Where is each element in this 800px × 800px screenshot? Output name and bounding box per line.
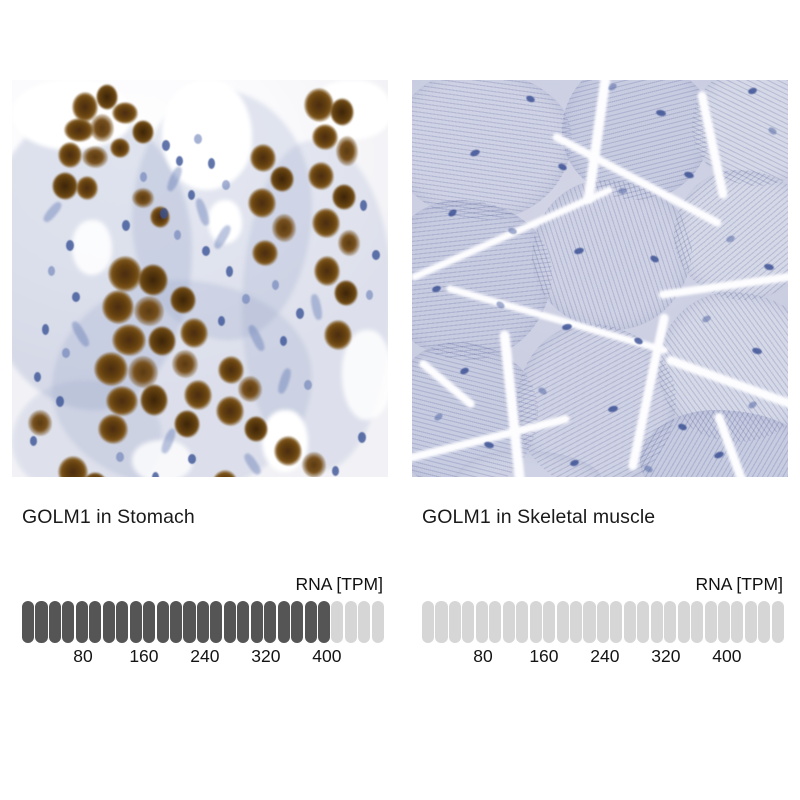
rna-segment (449, 601, 461, 643)
rna-tick-label: 320 (651, 646, 680, 667)
rna-segment (758, 601, 770, 643)
rna-segment (143, 601, 155, 643)
rna-segment (197, 601, 209, 643)
rna-segment (251, 601, 263, 643)
rna-segment (570, 601, 582, 643)
rna-segment (718, 601, 730, 643)
rna-segment (157, 601, 169, 643)
rna-segment (422, 601, 434, 643)
rna-segment (610, 601, 622, 643)
figure-root: GOLM1 in Stomach RNA [TPM] 8016024032040… (0, 0, 800, 800)
rna-tick-label: 240 (190, 646, 219, 667)
rna-segment (462, 601, 474, 643)
rna-segment (331, 601, 343, 643)
rna-tick-label: 160 (529, 646, 558, 667)
rna-segment (772, 601, 784, 643)
rna-segment (372, 601, 384, 643)
rna-segment (651, 601, 663, 643)
rna-segment (345, 601, 357, 643)
rna-segment (62, 601, 74, 643)
rna-segment (557, 601, 569, 643)
rna-segment (170, 601, 182, 643)
rna-segment (130, 601, 142, 643)
rna-segment (691, 601, 703, 643)
rna-label-skeletal-muscle: RNA [TPM] (695, 574, 783, 595)
rna-segment (49, 601, 61, 643)
rna-segment (731, 601, 743, 643)
rna-tick-label: 240 (590, 646, 619, 667)
rna-segment (22, 601, 34, 643)
rna-segment (530, 601, 542, 643)
rna-segment (597, 601, 609, 643)
panel-stomach: GOLM1 in Stomach RNA [TPM] 8016024032040… (0, 0, 400, 800)
micrograph-skeletal-muscle[interactable] (412, 80, 788, 477)
rna-segment (516, 601, 528, 643)
rna-segment (183, 601, 195, 643)
rna-segment (637, 601, 649, 643)
rna-tick-label: 400 (312, 646, 341, 667)
rna-tick-label: 320 (251, 646, 280, 667)
rna-segment (103, 601, 115, 643)
rna-segment (224, 601, 236, 643)
rna-segment (583, 601, 595, 643)
rna-segment (210, 601, 222, 643)
micrograph-stomach[interactable] (12, 80, 388, 477)
rna-segment (503, 601, 515, 643)
rna-tick-label: 80 (73, 646, 92, 667)
rna-segment (476, 601, 488, 643)
rna-segment (305, 601, 317, 643)
rna-tick-label: 160 (129, 646, 158, 667)
rna-segment (237, 601, 249, 643)
rna-segment (116, 601, 128, 643)
rna-segment (435, 601, 447, 643)
rna-segment (278, 601, 290, 643)
rna-segment (318, 601, 330, 643)
rna-segment (291, 601, 303, 643)
rna-segment (89, 601, 101, 643)
rna-segment (705, 601, 717, 643)
rna-gauge-stomach[interactable] (22, 601, 384, 643)
rna-tick-label: 80 (473, 646, 492, 667)
rna-label-stomach: RNA [TPM] (295, 574, 383, 595)
rna-segment (35, 601, 47, 643)
rna-tick-label: 400 (712, 646, 741, 667)
rna-segment (264, 601, 276, 643)
rna-ticks-stomach: 80160240320400 (22, 646, 384, 670)
rna-segment (745, 601, 757, 643)
rna-segment (76, 601, 88, 643)
rna-segment (678, 601, 690, 643)
caption-skeletal-muscle: GOLM1 in Skeletal muscle (422, 506, 655, 529)
caption-stomach: GOLM1 in Stomach (22, 506, 195, 529)
panel-skeletal-muscle: GOLM1 in Skeletal muscle RNA [TPM] 80160… (400, 0, 800, 800)
rna-segment (358, 601, 370, 643)
rna-ticks-skeletal-muscle: 80160240320400 (422, 646, 784, 670)
rna-gauge-skeletal-muscle[interactable] (422, 601, 784, 643)
rna-segment (664, 601, 676, 643)
rna-segment (489, 601, 501, 643)
rna-segment (624, 601, 636, 643)
rna-segment (543, 601, 555, 643)
